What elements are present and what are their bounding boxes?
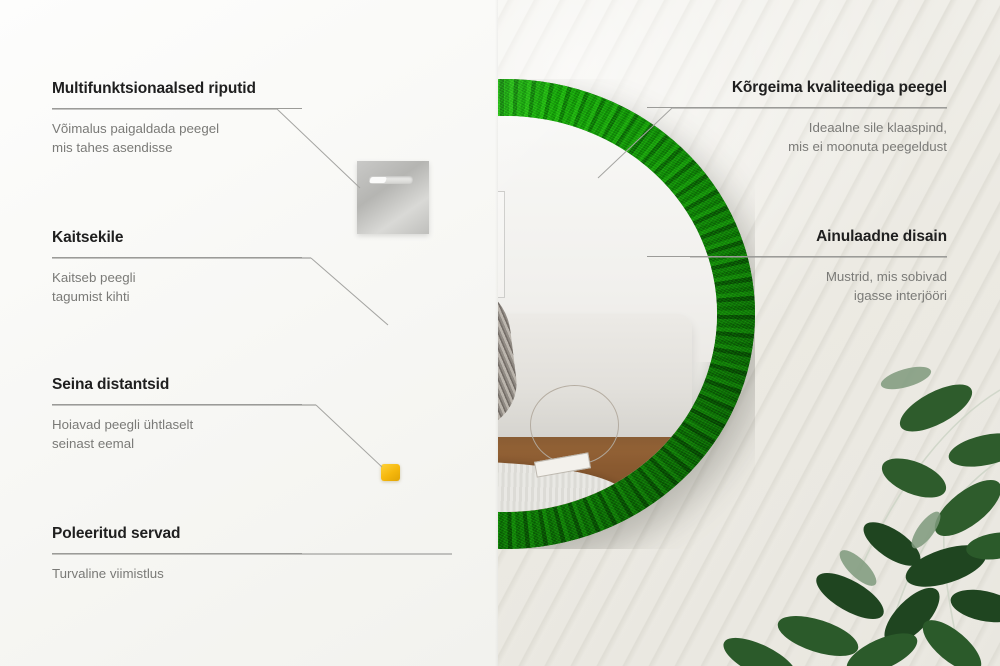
hanger-keyhole-slot <box>369 176 414 185</box>
wall-spacer <box>381 464 400 481</box>
callout-title: Poleeritud servad <box>52 525 302 544</box>
mirror-glass <box>497 116 717 513</box>
callout-kaitsekile: Kaitsekile Kaitseb peegli tagumist kihti <box>52 229 302 306</box>
callout-body: Hoiavad peegli ühtlaselt seinast eemal <box>52 415 302 454</box>
callout-body: Ideaalne sile klaaspind, mis ei moonuta … <box>647 118 947 157</box>
callout-rule <box>647 256 947 257</box>
callout-rule <box>52 553 302 554</box>
foliage-decoration <box>700 330 1000 666</box>
callout-title: Kõrgeima kvaliteediga peegel <box>647 79 947 98</box>
callout-title: Seina distantsid <box>52 376 302 395</box>
callout-body: Mustrid, mis sobivad igasse interjööri <box>647 267 947 306</box>
callout-korgeima-kvaliteediga-peegel: Kõrgeima kvaliteediga peegel Ideaalne si… <box>647 79 947 156</box>
callout-rule <box>52 257 302 258</box>
reflection-floor-lamp <box>530 385 619 464</box>
infographic-canvas: Multifunktsionaalsed riputid Võimalus pa… <box>0 0 1000 666</box>
callout-rule <box>52 404 302 405</box>
callout-multifunktsionaalsed-riputid: Multifunktsionaalsed riputid Võimalus pa… <box>52 80 302 157</box>
callout-rule <box>52 108 302 109</box>
callout-title: Multifunktsionaalsed riputid <box>52 80 302 99</box>
hanger-plate <box>357 161 429 234</box>
callout-title: Ainulaadne disain <box>647 228 947 247</box>
callout-title: Kaitsekile <box>52 229 302 248</box>
callout-rule <box>647 107 947 108</box>
callout-body: Turvaline viimistlus <box>52 564 302 583</box>
callout-body: Võimalus paigaldada peegel mis tahes ase… <box>52 119 302 158</box>
callout-seina-distantsid: Seina distantsid Hoiavad peegli ühtlasel… <box>52 376 302 453</box>
callout-poleeritud-servad: Poleeritud servad Turvaline viimistlus <box>52 525 302 583</box>
callout-body: Kaitseb peegli tagumist kihti <box>52 268 302 307</box>
reflection-wall-art <box>497 191 505 298</box>
callout-ainulaadne-disain: Ainulaadne disain Mustrid, mis sobivad i… <box>647 228 947 305</box>
